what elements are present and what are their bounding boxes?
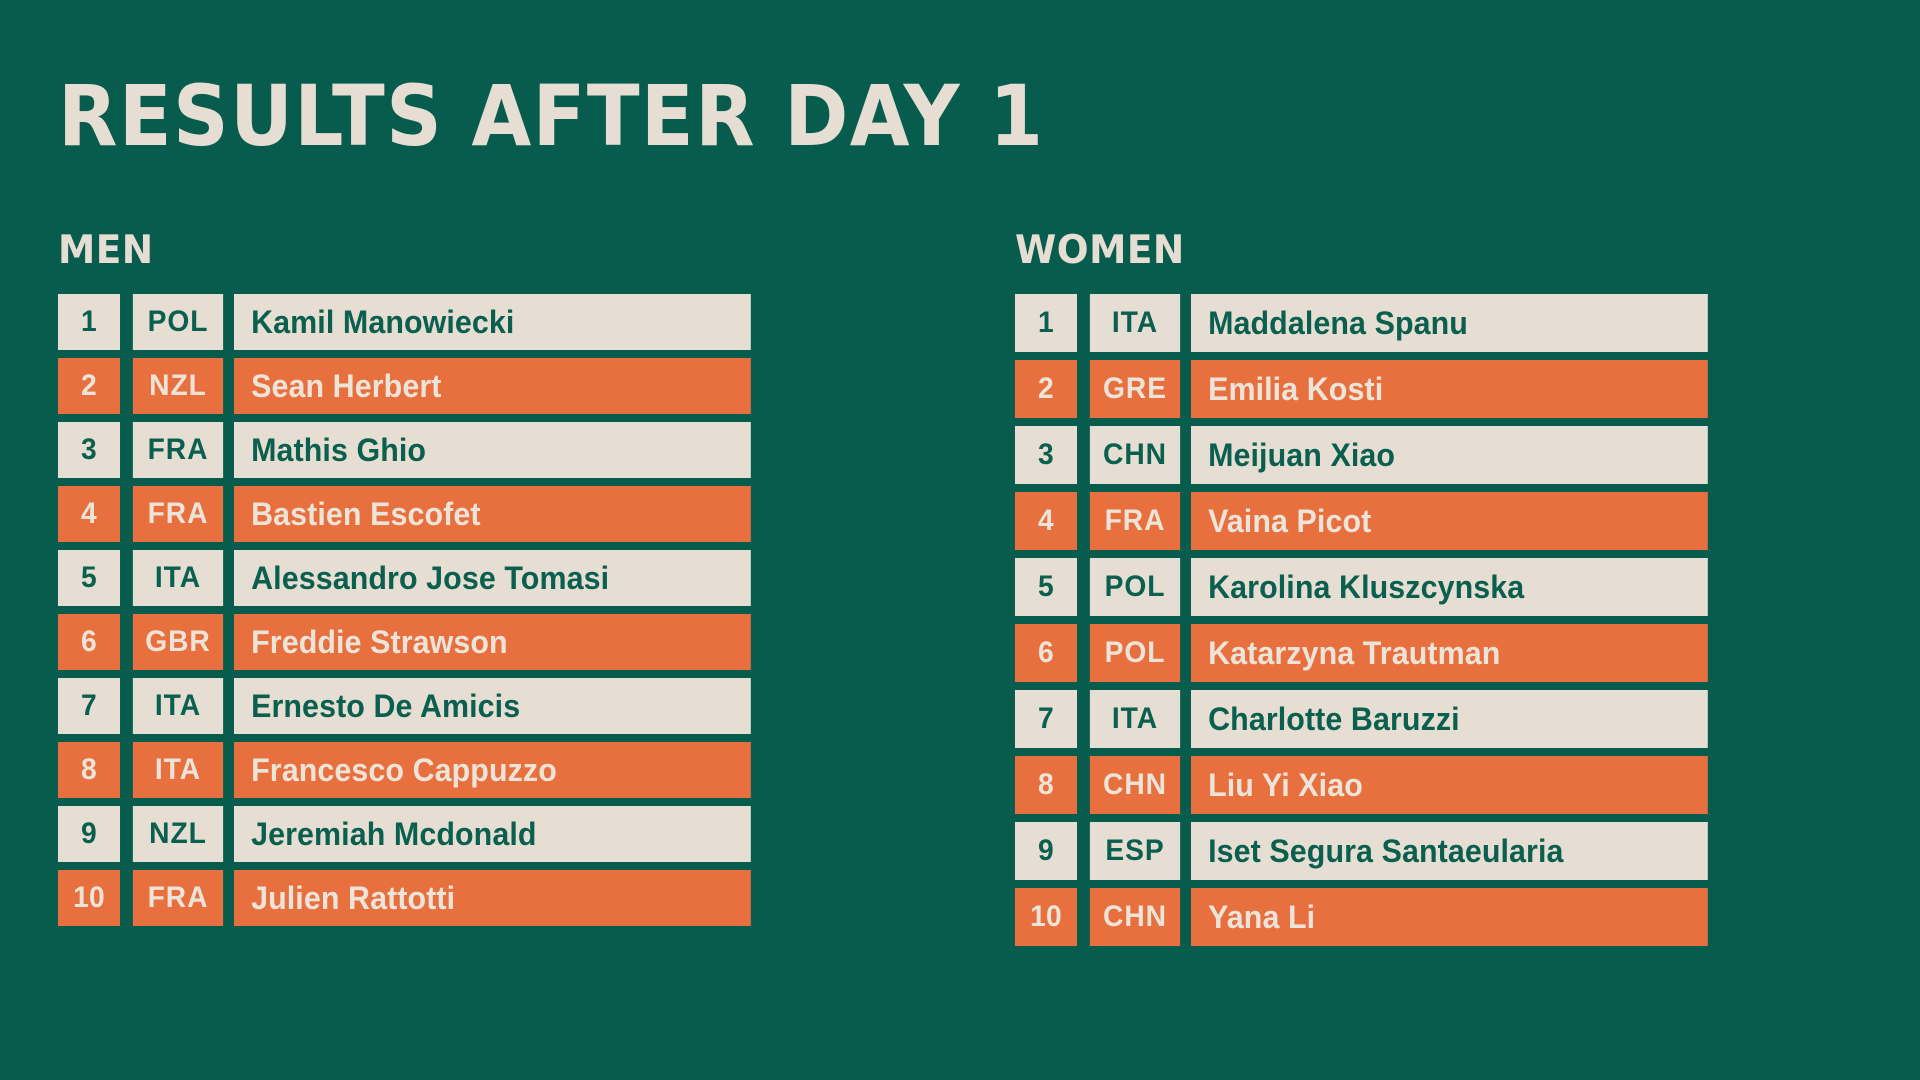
nation-cell: ESP bbox=[1090, 822, 1180, 880]
table-row: 4FRABastien Escofet bbox=[56, 486, 778, 542]
table-row: 9NZLJeremiah Mcdonald bbox=[56, 806, 778, 862]
results-table-men: 1POLKamil Manowiecki2NZLSean Herbert3FRA… bbox=[56, 294, 778, 926]
nation-cell: CHN bbox=[1090, 888, 1180, 946]
table-row: 5POLKarolina Kluszcynska bbox=[1013, 558, 1735, 616]
table-row: 9ESPIset Segura Santaeularia bbox=[1013, 822, 1735, 880]
athlete-name-cell: Freddie Strawson bbox=[234, 614, 751, 670]
table-row: 6POLKatarzyna Trautman bbox=[1013, 624, 1735, 682]
nation-cell: ITA bbox=[133, 742, 223, 798]
results-column-men: Men 1POLKamil Manowiecki2NZLSean Herbert… bbox=[56, 216, 946, 926]
athlete-name-cell: Sean Herbert bbox=[234, 358, 751, 414]
athlete-name-cell: Ernesto De Amicis bbox=[234, 678, 751, 734]
table-row: 10CHNYana Li bbox=[1013, 888, 1735, 946]
nation-cell: FRA bbox=[133, 486, 223, 542]
athlete-name-cell: Jeremiah Mcdonald bbox=[234, 806, 751, 862]
athlete-name-cell: Liu Yi Xiao bbox=[1191, 756, 1708, 814]
athlete-name-cell: Iset Segura Santaeularia bbox=[1191, 822, 1708, 880]
table-row: 3FRAMathis Ghio bbox=[56, 422, 778, 478]
rank-cell: 7 bbox=[1015, 690, 1077, 748]
nation-cell: FRA bbox=[133, 870, 223, 926]
table-row: 2NZLSean Herbert bbox=[56, 358, 778, 414]
nation-cell: ITA bbox=[1090, 294, 1180, 352]
rank-cell: 6 bbox=[58, 614, 120, 670]
rank-cell: 9 bbox=[58, 806, 120, 862]
section-title-men: Men bbox=[58, 216, 910, 278]
page-title: Results After Day 1 bbox=[58, 74, 1044, 158]
rank-cell: 3 bbox=[1015, 426, 1077, 484]
nation-cell: CHN bbox=[1090, 426, 1180, 484]
nation-cell: POL bbox=[1090, 558, 1180, 616]
athlete-name-cell: Alessandro Jose Tomasi bbox=[234, 550, 751, 606]
nation-cell: CHN bbox=[1090, 756, 1180, 814]
rank-cell: 10 bbox=[58, 870, 120, 926]
nation-cell: POL bbox=[133, 294, 223, 350]
table-row: 8ITAFrancesco Cappuzzo bbox=[56, 742, 778, 798]
results-slide: Results After Day 1 Men 1POLKamil Manowi… bbox=[0, 0, 1920, 1080]
athlete-name-cell: Emilia Kosti bbox=[1191, 360, 1708, 418]
rank-cell: 9 bbox=[1015, 822, 1077, 880]
athlete-name-cell: Yana Li bbox=[1191, 888, 1708, 946]
athlete-name-cell: Karolina Kluszcynska bbox=[1191, 558, 1708, 616]
results-column-women: Women 1ITAMaddalena Spanu2GREEmilia Kost… bbox=[1013, 216, 1903, 946]
table-row: 6GBRFreddie Strawson bbox=[56, 614, 778, 670]
nation-cell: NZL bbox=[133, 806, 223, 862]
rank-cell: 1 bbox=[58, 294, 120, 350]
athlete-name-cell: Bastien Escofet bbox=[234, 486, 751, 542]
rank-cell: 3 bbox=[58, 422, 120, 478]
athlete-name-cell: Maddalena Spanu bbox=[1191, 294, 1708, 352]
rank-cell: 8 bbox=[58, 742, 120, 798]
results-columns: Men 1POLKamil Manowiecki2NZLSean Herbert… bbox=[0, 216, 1920, 946]
athlete-name-cell: Vaina Picot bbox=[1191, 492, 1708, 550]
table-row: 3CHNMeijuan Xiao bbox=[1013, 426, 1735, 484]
rank-cell: 5 bbox=[1015, 558, 1077, 616]
athlete-name-cell: Mathis Ghio bbox=[234, 422, 751, 478]
table-row: 10FRAJulien Rattotti bbox=[56, 870, 778, 926]
table-row: 2GREEmilia Kosti bbox=[1013, 360, 1735, 418]
nation-cell: ITA bbox=[133, 678, 223, 734]
rank-cell: 6 bbox=[1015, 624, 1077, 682]
section-title-women: Women bbox=[1015, 216, 1867, 278]
athlete-name-cell: Julien Rattotti bbox=[234, 870, 751, 926]
nation-cell: POL bbox=[1090, 624, 1180, 682]
table-row: 5ITAAlessandro Jose Tomasi bbox=[56, 550, 778, 606]
rank-cell: 8 bbox=[1015, 756, 1077, 814]
athlete-name-cell: Charlotte Baruzzi bbox=[1191, 690, 1708, 748]
nation-cell: NZL bbox=[133, 358, 223, 414]
nation-cell: FRA bbox=[133, 422, 223, 478]
nation-cell: ITA bbox=[133, 550, 223, 606]
athlete-name-cell: Meijuan Xiao bbox=[1191, 426, 1708, 484]
rank-cell: 2 bbox=[1015, 360, 1077, 418]
table-row: 7ITACharlotte Baruzzi bbox=[1013, 690, 1735, 748]
table-row: 1ITAMaddalena Spanu bbox=[1013, 294, 1735, 352]
table-row: 4FRAVaina Picot bbox=[1013, 492, 1735, 550]
nation-cell: FRA bbox=[1090, 492, 1180, 550]
rank-cell: 2 bbox=[58, 358, 120, 414]
rank-cell: 4 bbox=[58, 486, 120, 542]
athlete-name-cell: Francesco Cappuzzo bbox=[234, 742, 751, 798]
results-table-women: 1ITAMaddalena Spanu2GREEmilia Kosti3CHNM… bbox=[1013, 294, 1735, 946]
nation-cell: GRE bbox=[1090, 360, 1180, 418]
rank-cell: 10 bbox=[1015, 888, 1077, 946]
rank-cell: 1 bbox=[1015, 294, 1077, 352]
table-row: 7ITAErnesto De Amicis bbox=[56, 678, 778, 734]
table-row: 1POLKamil Manowiecki bbox=[56, 294, 778, 350]
rank-cell: 4 bbox=[1015, 492, 1077, 550]
nation-cell: ITA bbox=[1090, 690, 1180, 748]
athlete-name-cell: Katarzyna Trautman bbox=[1191, 624, 1708, 682]
nation-cell: GBR bbox=[133, 614, 223, 670]
rank-cell: 7 bbox=[58, 678, 120, 734]
table-row: 8CHNLiu Yi Xiao bbox=[1013, 756, 1735, 814]
athlete-name-cell: Kamil Manowiecki bbox=[234, 294, 751, 350]
rank-cell: 5 bbox=[58, 550, 120, 606]
